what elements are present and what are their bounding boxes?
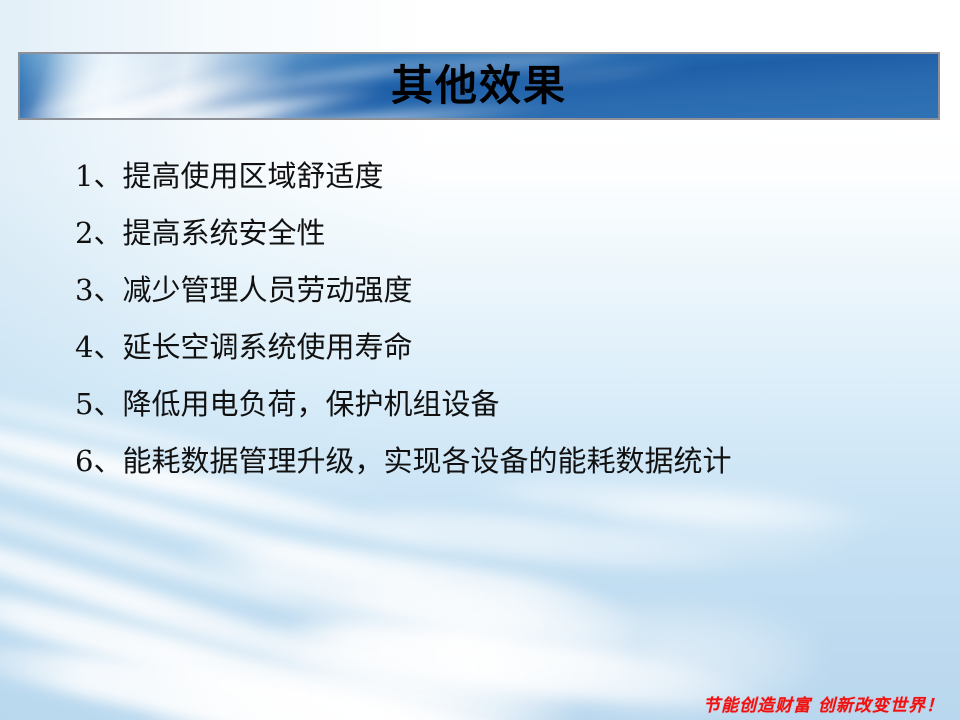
slide-canvas: 其他效果 1、提高使用区域舒适度 2、提高系统安全性 3、减少管理人员劳动强度 … xyxy=(0,0,960,720)
list-item: 2、提高系统安全性 xyxy=(75,205,915,262)
slide-title-bar: 其他效果 xyxy=(18,52,940,120)
list-item-label: 降低用电负荷，保护机组设备 xyxy=(122,387,499,421)
page-title: 其他效果 xyxy=(20,54,938,118)
list-item-number: 2、 xyxy=(75,216,122,250)
list-item-label: 提高使用区域舒适度 xyxy=(122,159,383,193)
content-list: 1、提高使用区域舒适度 2、提高系统安全性 3、减少管理人员劳动强度 4、延长空… xyxy=(75,148,915,490)
list-item-number: 1、 xyxy=(75,159,122,193)
list-item-number: 5、 xyxy=(75,387,122,421)
list-item-number: 3、 xyxy=(75,273,122,307)
list-item-label: 减少管理人员劳动强度 xyxy=(122,273,412,307)
list-item: 5、降低用电负荷，保护机组设备 xyxy=(75,376,915,433)
list-item: 1、提高使用区域舒适度 xyxy=(75,148,915,205)
list-item-label: 延长空调系统使用寿命 xyxy=(122,330,412,364)
list-item-label: 能耗数据管理升级，实现各设备的能耗数据统计 xyxy=(122,444,731,478)
list-item-label: 提高系统安全性 xyxy=(122,216,325,250)
footer-slogan: 节能创造财富 创新改变世界！ xyxy=(703,691,944,716)
list-item: 4、延长空调系统使用寿命 xyxy=(75,319,915,376)
list-item-number: 4、 xyxy=(75,330,122,364)
list-item: 3、减少管理人员劳动强度 xyxy=(75,262,915,319)
list-item: 6、能耗数据管理升级，实现各设备的能耗数据统计 xyxy=(75,433,915,490)
list-item-number: 6、 xyxy=(75,444,122,478)
